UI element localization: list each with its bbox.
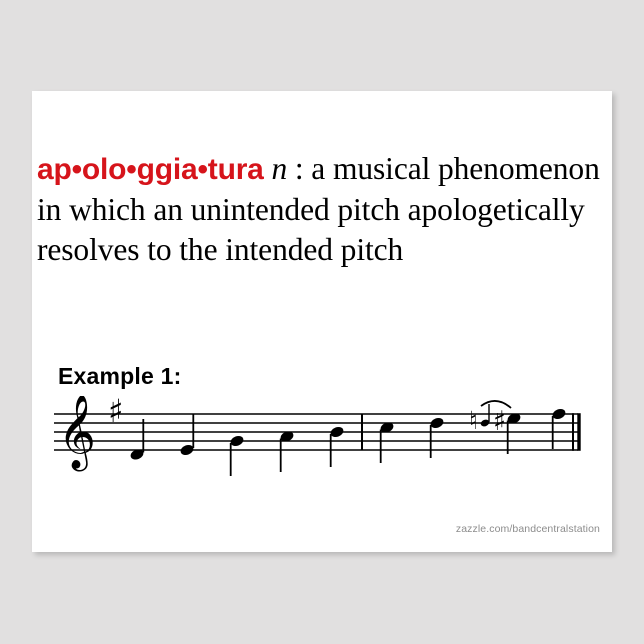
dictionary-definition-block: ap•olo•ggia•tura n : a musical phenomeno… (37, 149, 612, 270)
key-signature-sharp-icon: ♯ (108, 396, 123, 430)
sharp-accidental-icon: ♯ (493, 406, 506, 437)
music-staff: 𝄞 ♯ (32, 396, 612, 486)
part-of-speech: n (271, 151, 287, 186)
treble-clef-icon: 𝄞 (58, 396, 96, 472)
footer-credit: zazzle.com/bandcentralstation (456, 523, 600, 535)
poster-canvas: ap•olo•ggia•tura n : a musical phenomeno… (32, 91, 612, 552)
natural-accidental-icon: ♮ (469, 406, 478, 435)
poster-stage: ap•olo•ggia•tura n : a musical phenomeno… (0, 0, 644, 644)
definition-separator: : (287, 151, 311, 186)
example-label: Example 1: (58, 363, 181, 390)
headword: ap•olo•ggia•tura (37, 153, 264, 186)
